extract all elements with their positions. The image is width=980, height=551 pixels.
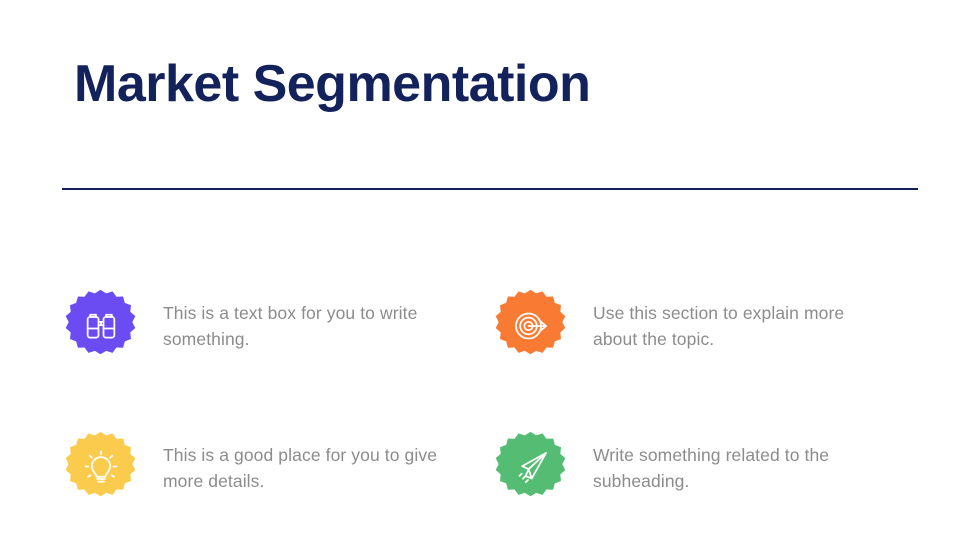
page-title: Market Segmentation [74, 56, 590, 113]
feature-item-1[interactable]: This is a text box for you to write some… [62, 255, 492, 397]
feature-badge-3 [62, 430, 139, 507]
feature-badge-4 [492, 430, 569, 507]
feature-item-2[interactable]: Use this section to explain more about t… [492, 255, 922, 397]
lightbulb-icon [81, 448, 121, 488]
paper-plane-icon [511, 448, 551, 488]
feature-text-2: Use this section to explain more about t… [593, 300, 893, 353]
slide-canvas: Market Segmentation [0, 0, 980, 551]
feature-grid: This is a text box for you to write some… [62, 255, 918, 539]
feature-item-4[interactable]: Write something related to the subheadin… [492, 397, 922, 539]
binoculars-icon [81, 306, 121, 346]
feature-text-1: This is a text box for you to write some… [163, 300, 463, 353]
target-arrow-icon [511, 306, 551, 346]
feature-badge-2 [492, 288, 569, 365]
feature-item-3[interactable]: This is a good place for you to give mor… [62, 397, 492, 539]
feature-badge-1 [62, 288, 139, 365]
title-divider [62, 188, 918, 190]
feature-text-3: This is a good place for you to give mor… [163, 442, 463, 495]
feature-text-4: Write something related to the subheadin… [593, 442, 893, 495]
